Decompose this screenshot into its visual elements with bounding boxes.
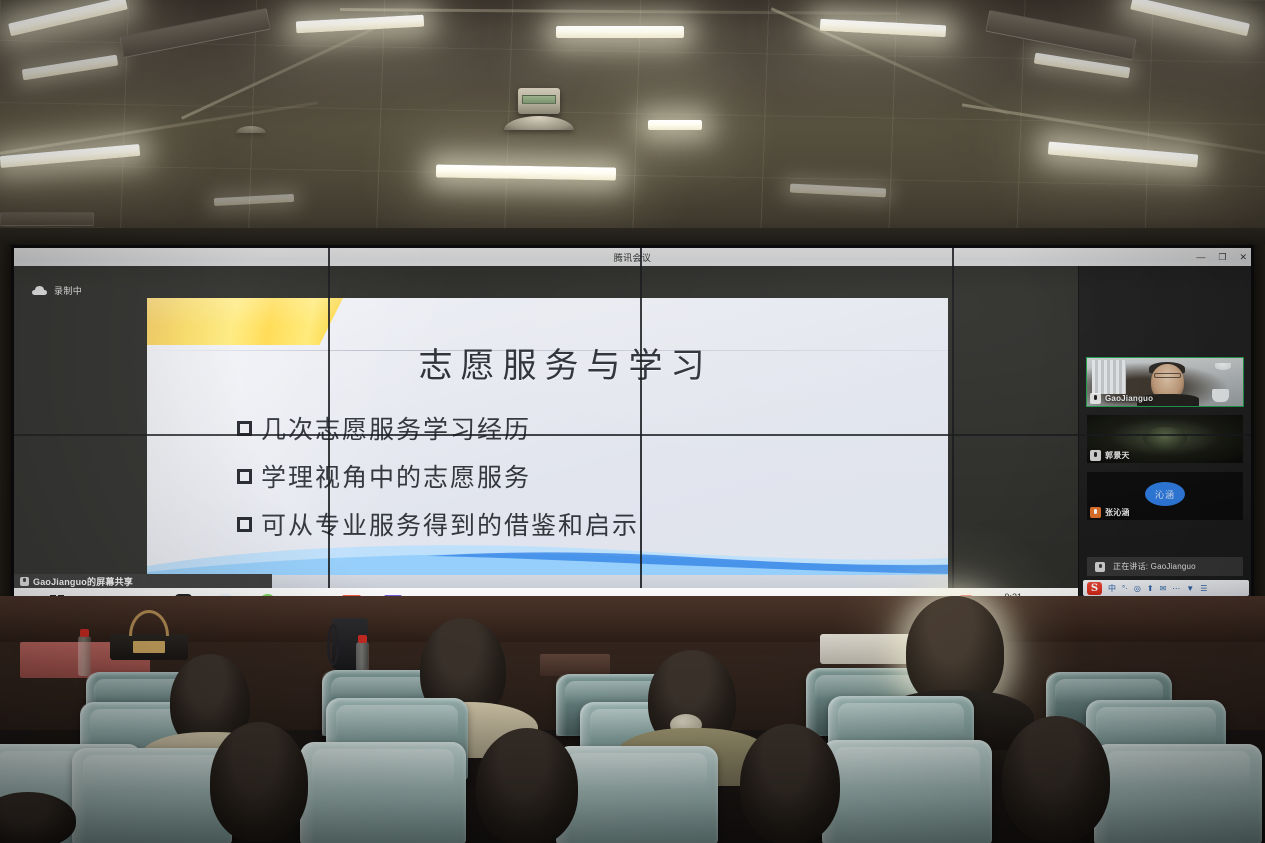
slide-bullet-text: 几次志愿服务学习经历 xyxy=(261,410,531,446)
ceiling-light-panel xyxy=(556,26,684,38)
auditorium-seat xyxy=(822,740,992,843)
sogou-ime-toolbar[interactable]: S 中 °· ◎ ⬆ ✉ ⋯ ▼ ☰ xyxy=(1083,580,1249,596)
audience-member-head xyxy=(476,728,578,843)
rear-desk-ledge xyxy=(0,596,1265,642)
ime-more-icon[interactable]: ⋯ xyxy=(1172,584,1180,593)
cloud-icon xyxy=(32,286,47,295)
minimize-button[interactable]: — xyxy=(1196,253,1205,262)
slide-bullet-item: 几次志愿服务学习经历 xyxy=(237,410,928,446)
ceiling-air-vent xyxy=(0,212,94,226)
ime-skin-icon[interactable]: ◎ xyxy=(1134,584,1141,593)
maximize-button[interactable]: ❐ xyxy=(1218,253,1226,262)
slide-bullet-text: 学理视角中的志愿服务 xyxy=(261,458,531,494)
screen-share-stage: 录制中 志愿服务与学习 几次志愿服务学习经历 xyxy=(14,266,1078,616)
recording-indicator: 录制中 xyxy=(32,284,82,297)
background-cup xyxy=(1212,389,1229,402)
window-title-bar: 腾讯会议 — ❐ ✕ xyxy=(14,248,1251,266)
ceiling-speaker-dome xyxy=(236,126,266,133)
bag-tag xyxy=(133,641,164,652)
ime-punctuation-toggle[interactable]: °· xyxy=(1122,584,1128,593)
auditorium-seat xyxy=(556,746,718,843)
auditorium-seat xyxy=(72,748,232,843)
ime-mailbox-icon[interactable]: ✉ xyxy=(1160,584,1167,593)
screen-share-label-bar: GaoJianguo的屏幕共享 xyxy=(14,574,272,588)
participant-name: 张沁涵 xyxy=(1105,507,1130,518)
ceiling-projector-unit xyxy=(518,88,560,114)
active-speaker-label: 正在讲话: GaoJianguo xyxy=(1113,561,1196,572)
ime-voice-input-icon[interactable]: ⬆ xyxy=(1147,584,1154,593)
audience-member-head xyxy=(210,722,308,842)
backpack-strap xyxy=(327,624,339,666)
participant-tile[interactable]: GaoJianguo xyxy=(1087,358,1243,406)
ime-toolbox-icon[interactable]: ▼ xyxy=(1186,584,1194,593)
square-bullet-icon xyxy=(237,469,252,484)
video-wall-panel-seam xyxy=(14,434,1251,436)
auditorium-seat xyxy=(300,742,466,843)
video-wall-panel-seam xyxy=(640,248,642,616)
ime-mode-chinese[interactable]: 中 xyxy=(1108,583,1116,594)
conference-room-photo: 腾讯会议 — ❐ ✕ 录制中 xyxy=(0,0,1265,843)
participant-video-rail: GaoJianguo 郭景天 xyxy=(1078,266,1251,616)
equipment-case xyxy=(820,634,916,664)
slide-title: 志愿服务与学习 xyxy=(147,338,948,387)
tencent-meeting-window: 腾讯会议 — ❐ ✕ 录制中 xyxy=(14,248,1251,616)
handbag xyxy=(110,634,188,660)
person-glasses xyxy=(1154,373,1181,377)
audience-member-head xyxy=(740,724,840,843)
microphone-muted-icon xyxy=(1090,507,1101,518)
participant-name-badge: GaoJianguo xyxy=(1090,393,1153,404)
window-title: 腾讯会议 xyxy=(614,251,652,264)
participant-name-badge: 郭景天 xyxy=(1090,450,1130,461)
participant-name: 郭景天 xyxy=(1105,450,1130,461)
ime-menu-icon[interactable]: ☰ xyxy=(1200,584,1207,593)
auditorium-seat xyxy=(1094,744,1262,843)
water-bottle xyxy=(78,636,91,676)
participant-tile[interactable]: 郭景天 xyxy=(1087,415,1243,463)
background-window-blinds xyxy=(1092,360,1126,395)
participant-name: GaoJianguo xyxy=(1105,394,1153,403)
ceiling-light-panel xyxy=(648,120,702,130)
ceiling xyxy=(0,0,1265,244)
desk-panel xyxy=(540,654,610,676)
ceiling-soffit xyxy=(0,228,1265,248)
video-wall-panel-seam xyxy=(952,248,954,616)
microphone-icon xyxy=(1090,393,1101,404)
audience-member-head xyxy=(1002,716,1110,842)
background-lamp xyxy=(1215,363,1231,370)
close-button[interactable]: ✕ xyxy=(1239,253,1247,262)
microphone-icon xyxy=(1090,450,1101,461)
microphone-icon xyxy=(1095,562,1105,572)
recording-label: 录制中 xyxy=(54,284,82,297)
led-video-wall: 腾讯会议 — ❐ ✕ 录制中 xyxy=(14,248,1251,616)
video-wall-panel-seam xyxy=(328,248,330,616)
active-speaker-bar: 正在讲话: GaoJianguo xyxy=(1087,557,1243,576)
meeting-body: 录制中 志愿服务与学习 几次志愿服务学习经历 xyxy=(14,266,1251,616)
audience-foreground xyxy=(0,596,1265,843)
microphone-icon xyxy=(20,577,29,586)
presentation-slide: 志愿服务与学习 几次志愿服务学习经历 学理视角中的志愿服务 xyxy=(147,298,948,588)
sogou-ime-logo-icon: S xyxy=(1087,582,1102,595)
participant-name-badge: 张沁涵 xyxy=(1090,507,1130,518)
video-subject xyxy=(1143,427,1187,449)
screen-share-label: GaoJianguo的屏幕共享 xyxy=(33,575,133,588)
participant-tile[interactable]: 沁涵 张沁涵 xyxy=(1087,472,1243,520)
avatar: 沁涵 xyxy=(1145,482,1185,506)
window-controls: — ❐ ✕ xyxy=(1196,248,1247,266)
slide-bullet-item: 学理视角中的志愿服务 xyxy=(237,458,928,494)
projector-display xyxy=(522,95,556,104)
